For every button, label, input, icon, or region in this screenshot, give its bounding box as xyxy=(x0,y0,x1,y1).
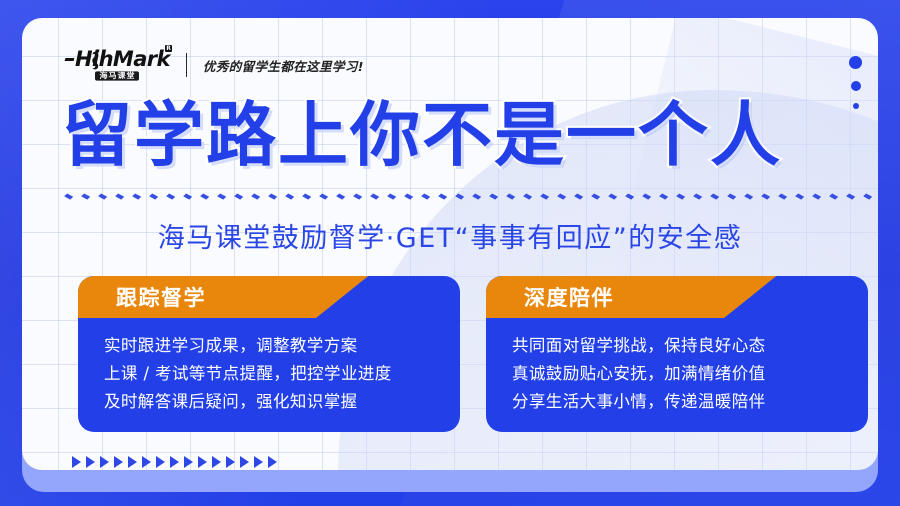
arrow-right-icon xyxy=(184,456,193,468)
logo-wordmark: HihMark R xyxy=(65,49,170,70)
divider-dash-icon xyxy=(523,194,532,201)
divider-dash-icon xyxy=(812,194,821,201)
divider-dash-icon xyxy=(608,194,617,201)
arrow-right-icon xyxy=(198,456,207,468)
divider-dash-icon xyxy=(625,194,634,201)
divider-dash-icon xyxy=(421,194,430,201)
divider-dash-icon xyxy=(506,194,515,201)
divider-dash-icon xyxy=(183,194,192,201)
feature-cards: 跟踪督学 实时跟进学习成果，调整教学方案 上课 / 考试等节点提醒，把控学业进度… xyxy=(78,276,868,432)
card-tab-label: 深度陪伴 xyxy=(486,282,614,312)
divider-dash-icon xyxy=(387,194,396,201)
arrow-right-icon xyxy=(212,456,221,468)
card-line: 实时跟进学习成果，调整教学方案 xyxy=(104,332,434,360)
logo-dash-icon xyxy=(65,58,75,61)
divider-dash-icon xyxy=(370,194,379,201)
divider-dash-icon xyxy=(234,194,243,201)
dot-large-icon xyxy=(849,56,862,69)
arrow-right-icon xyxy=(156,456,165,468)
logo-chinese-name: 海马课堂 xyxy=(95,71,139,80)
divider-dash-icon xyxy=(846,194,855,201)
feature-card: 深度陪伴 共同面对留学挑战，保持良好心态 真诚鼓励贴心安抚，加满情绪价值 分享生… xyxy=(486,276,868,432)
card-line: 及时解答课后疑问，强化知识掌握 xyxy=(104,388,434,416)
divider-dash-icon xyxy=(251,194,260,201)
brand-row: HihMark R 海马课堂 优秀的留学生都在这里学习! xyxy=(65,48,364,82)
arrow-right-icon xyxy=(114,456,123,468)
divider-dash-icon xyxy=(727,194,736,201)
dot-medium-icon xyxy=(851,81,861,91)
divider-dash-icon xyxy=(404,194,413,201)
arrow-right-icon xyxy=(268,456,277,468)
divider-dash-icon xyxy=(285,194,294,201)
divider-dash-icon xyxy=(115,194,124,201)
arrow-right-icon xyxy=(72,456,81,468)
card-body: 共同面对留学挑战，保持良好心态 真诚鼓励贴心安抚，加满情绪价值 分享生活大事小情… xyxy=(486,318,868,416)
logo-wordmark-prefix: Hi xyxy=(75,49,99,70)
divider-dash-icon xyxy=(472,194,481,201)
divider-dash-icon xyxy=(217,194,226,201)
card-tab: 跟踪督学 xyxy=(78,276,368,318)
arrow-right-icon xyxy=(128,456,137,468)
arrow-right-icon xyxy=(142,456,151,468)
divider-dash-icon xyxy=(455,194,464,201)
card-line: 真诚鼓励贴心安抚，加满情绪价值 xyxy=(512,360,842,388)
divider-dash-icon xyxy=(81,194,90,201)
brand-divider xyxy=(186,53,187,77)
divider-dash-icon xyxy=(438,194,447,201)
arrow-right-icon xyxy=(254,456,263,468)
divider-dash-icon xyxy=(132,194,141,201)
divider-dash-icon xyxy=(829,194,838,201)
page-subtitle: 海马课堂鼓励督学·GET“事事有回应”的安全感 xyxy=(22,216,878,255)
divider-dash-icon xyxy=(795,194,804,201)
arrow-right-icon xyxy=(86,456,95,468)
divider-dash-icon xyxy=(540,194,549,201)
divider-dash-icon xyxy=(98,194,107,201)
divider-dash-icon xyxy=(319,194,328,201)
divider-dash-icon xyxy=(268,194,277,201)
arrow-right-icon xyxy=(240,456,249,468)
dot-decoration xyxy=(849,56,862,109)
card-body: 实时跟进学习成果，调整教学方案 上课 / 考试等节点提醒，把控学业进度 及时解答… xyxy=(78,318,460,416)
divider-dash-icon xyxy=(353,194,362,201)
divider-dash-icon xyxy=(693,194,702,201)
brand-tagline: 优秀的留学生都在这里学习! xyxy=(203,56,364,75)
arrow-right-icon xyxy=(226,456,235,468)
card-line: 上课 / 考试等节点提醒，把控学业进度 xyxy=(104,360,434,388)
divider-dash-icon xyxy=(557,194,566,201)
divider-dash-icon xyxy=(761,194,770,201)
arrow-strip xyxy=(72,456,277,468)
divider-dash-icon xyxy=(149,194,158,201)
dot-small-icon xyxy=(853,103,859,109)
divider-dash-icon xyxy=(336,194,345,201)
card-line: 共同面对留学挑战，保持良好心态 xyxy=(512,332,842,360)
logo-wordmark-suffix: hMark xyxy=(99,49,170,70)
divider-dash-icon xyxy=(710,194,719,201)
divider-dash-icon xyxy=(642,194,651,201)
divider-dash-icon xyxy=(574,194,583,201)
banner-root: HihMark R 海马课堂 优秀的留学生都在这里学习! 留学路上你不是一个人 … xyxy=(0,0,900,506)
divider-dash-icon xyxy=(863,194,872,201)
arrow-right-icon xyxy=(100,456,109,468)
registered-mark: R xyxy=(165,45,172,52)
divider-dash-icon xyxy=(302,194,311,201)
logo: HihMark R 海马课堂 xyxy=(65,49,170,81)
arrow-right-icon xyxy=(170,456,179,468)
content-panel: HihMark R 海马课堂 优秀的留学生都在这里学习! 留学路上你不是一个人 … xyxy=(22,18,878,470)
card-tab-label: 跟踪督学 xyxy=(78,282,206,312)
divider-dash-icon xyxy=(166,194,175,201)
divider-dash-icon xyxy=(676,194,685,201)
card-tab: 深度陪伴 xyxy=(486,276,776,318)
feature-card: 跟踪督学 实时跟进学习成果，调整教学方案 上课 / 考试等节点提醒，把控学业进度… xyxy=(78,276,460,432)
dashed-divider xyxy=(64,190,878,204)
divider-dash-icon xyxy=(64,194,73,201)
divider-dash-icon xyxy=(591,194,600,201)
divider-dash-icon xyxy=(200,194,209,201)
card-line: 分享生活大事小情，传递温暖陪伴 xyxy=(512,388,842,416)
divider-dash-icon xyxy=(659,194,668,201)
page-title: 留学路上你不是一个人 xyxy=(62,92,878,178)
divider-dash-icon xyxy=(778,194,787,201)
divider-dash-icon xyxy=(489,194,498,201)
divider-dash-icon xyxy=(744,194,753,201)
